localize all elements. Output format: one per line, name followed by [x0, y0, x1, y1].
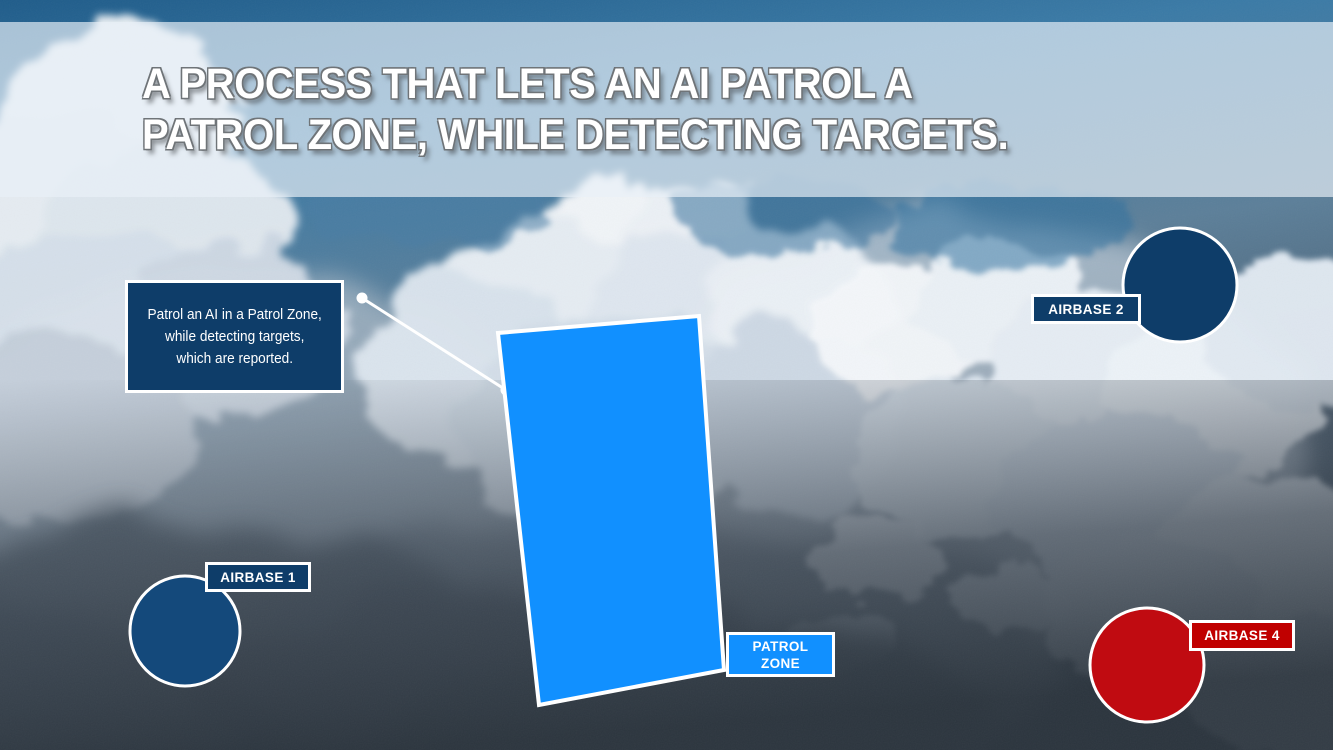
airbase-1-label[interactable]: AIRBASE 1 [205, 562, 311, 592]
patrol-zone-label-line-2: ZONE [761, 655, 800, 672]
callout-line-3: which are reported. [147, 348, 321, 370]
page-title-line-1: A PROCESS THAT LETS AN AI PATROL A [142, 59, 1250, 110]
page-title-line-2: PATROL ZONE, WHILE DETECTING TARGETS. [142, 110, 1250, 161]
airbase-4-circle[interactable] [1090, 608, 1204, 722]
airbase-4-label[interactable]: AIRBASE 4 [1189, 620, 1295, 651]
airbase-1-circle[interactable] [130, 576, 240, 686]
patrol-zone-label-line-1: PATROL [753, 638, 809, 655]
callout-line-2: while detecting targets, [147, 326, 321, 348]
callout-text-body: Patrol an AI in a Patrol Zone, while det… [147, 304, 321, 370]
airbase-2-label[interactable]: AIRBASE 2 [1031, 294, 1141, 324]
airbase-2-circle[interactable] [1123, 228, 1237, 342]
patrol-zone-label[interactable]: PATROL ZONE [726, 632, 835, 677]
callout-line-1: Patrol an AI in a Patrol Zone, [147, 304, 321, 326]
slide-canvas: A PROCESS THAT LETS AN AI PATROL A PATRO… [0, 0, 1333, 750]
callout-textbox[interactable]: Patrol an AI in a Patrol Zone, while det… [125, 280, 344, 393]
connector-start-dot [357, 293, 368, 304]
patrol-zone-polygon[interactable] [498, 316, 724, 705]
page-title: A PROCESS THAT LETS AN AI PATROL A PATRO… [0, 22, 1333, 197]
